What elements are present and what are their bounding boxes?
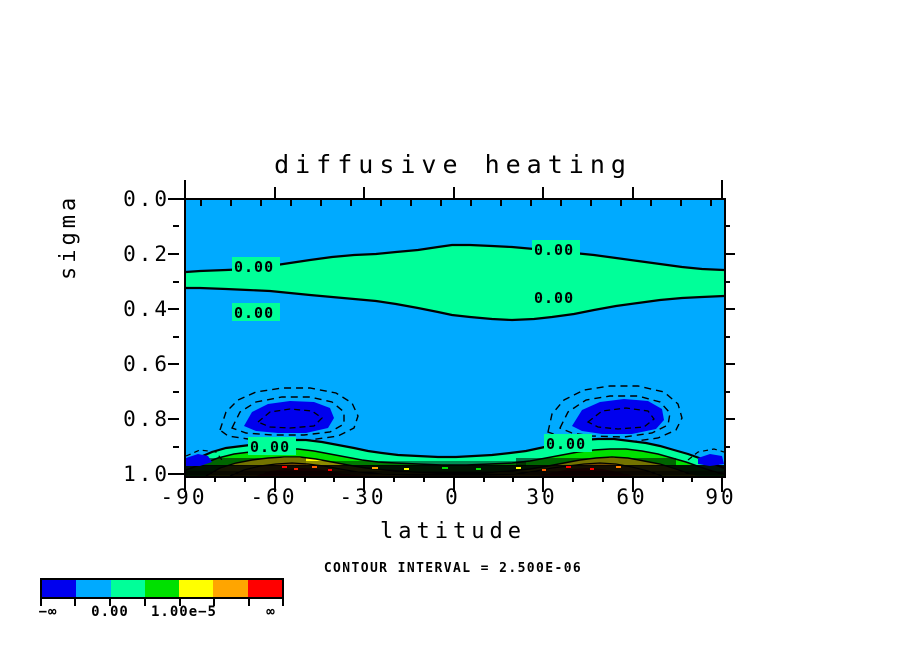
axis-tick-top <box>620 200 622 206</box>
axis-tick-top <box>350 200 352 206</box>
colorbar-band-6 <box>248 580 282 597</box>
colorbar-band-3 <box>145 580 179 597</box>
axis-tick-left-major <box>168 198 186 200</box>
colorbar <box>40 578 284 599</box>
axis-tick-bottom-major <box>632 476 634 492</box>
axis-tick-left-major <box>168 308 179 310</box>
axis-tick-bottom-minor <box>602 476 604 482</box>
axis-tick-left-major <box>168 253 179 255</box>
axis-tick-top <box>560 200 562 206</box>
axis-tick-left-minor <box>173 336 179 338</box>
contour-label-2: 0.00 <box>234 304 274 322</box>
y-tick-label: 0.2 <box>100 242 170 266</box>
axis-tick-bottom-minor <box>214 476 216 482</box>
axis-tick-top <box>320 200 322 206</box>
axis-tick-left-major <box>168 418 179 420</box>
axis-tick-top <box>230 200 232 206</box>
colorbar-band-4 <box>179 580 213 597</box>
axis-tick-bottom-minor <box>691 476 693 482</box>
axis-tick-bottom-major <box>363 476 365 492</box>
axis-tick-left-minor <box>173 225 179 227</box>
axis-tick-bottom-minor <box>483 476 485 482</box>
axis-tick-top <box>650 200 652 206</box>
x-axis-label: latitude <box>184 519 722 544</box>
contour-field: 0.00 0.00 0.00 0.00 0.00 0.00 <box>186 200 724 476</box>
axis-tick-bottom-major <box>184 476 186 492</box>
y-axis-label: sigma <box>56 194 81 280</box>
y-tick-label: 0.0 <box>100 187 170 211</box>
axis-tick-top <box>470 200 472 206</box>
axis-tick-top <box>680 200 682 206</box>
colorbar-tick <box>74 599 76 606</box>
axis-tick-right-minor <box>724 336 730 338</box>
contour-label-5: 0.00 <box>546 435 586 453</box>
axis-tick-top-major <box>274 187 276 198</box>
contour-label-4: 0.00 <box>250 438 290 456</box>
y-tick-label: 0.4 <box>100 297 170 321</box>
colorbar-bands <box>40 578 284 599</box>
axis-tick-top-major <box>542 187 544 198</box>
page-title: diffusive heating <box>184 150 722 179</box>
axis-tick-top-major <box>721 180 723 200</box>
axis-tick-top <box>290 200 292 206</box>
axis-tick-bottom-minor <box>244 476 246 482</box>
axis-tick-top <box>260 200 262 206</box>
axis-tick-top <box>530 200 532 206</box>
colorbar-label-zero: 0.00 <box>84 604 136 620</box>
y-tick-label: 0.6 <box>100 352 170 376</box>
contour-interval-note: CONTOUR INTERVAL = 2.500E-06 <box>184 561 722 576</box>
axis-tick-left-major <box>168 363 179 365</box>
axis-tick-left-minor <box>173 446 179 448</box>
axis-tick-right-major <box>724 308 735 310</box>
axis-tick-top-major <box>184 180 186 200</box>
colorbar-label-min: −∞ <box>24 604 72 620</box>
axis-tick-left-major <box>168 473 186 475</box>
axis-tick-bottom-minor <box>304 476 306 482</box>
contour-plot-area: 0.00 0.00 0.00 0.00 0.00 0.00 <box>184 198 726 478</box>
axis-tick-top <box>710 200 712 206</box>
colorbar-band-5 <box>213 580 247 597</box>
axis-tick-top <box>500 200 502 206</box>
axis-tick-bottom-minor <box>423 476 425 482</box>
axis-tick-bottom-major <box>542 476 544 492</box>
axis-tick-right-major <box>724 363 735 365</box>
axis-tick-bottom-minor <box>393 476 395 482</box>
axis-tick-bottom-major <box>274 476 276 492</box>
colorbar-band-0 <box>42 580 76 597</box>
axis-tick-top-major <box>632 187 634 198</box>
axis-tick-bottom-minor <box>512 476 514 482</box>
axis-tick-left-minor <box>173 391 179 393</box>
axis-tick-right-minor <box>724 225 730 227</box>
contour-label-1: 0.00 <box>534 241 574 259</box>
axis-tick-top-major <box>453 187 455 198</box>
axis-tick-top <box>380 200 382 206</box>
contour-label-0: 0.00 <box>234 258 274 276</box>
colorbar-tick <box>248 599 250 606</box>
axis-tick-top <box>410 200 412 206</box>
axis-tick-bottom-minor <box>662 476 664 482</box>
axis-tick-bottom-major <box>453 476 455 492</box>
colorbar-band-1 <box>76 580 110 597</box>
axis-tick-top <box>440 200 442 206</box>
axis-tick-right-minor <box>724 281 730 283</box>
axis-tick-top <box>200 200 202 206</box>
contour-label-3: 0.00 <box>534 289 574 307</box>
y-tick-label: 0.8 <box>100 407 170 431</box>
colorbar-band-2 <box>111 580 145 597</box>
axis-tick-bottom-minor <box>333 476 335 482</box>
colorbar-label-mid: 1.00e−5 <box>142 604 226 620</box>
axis-tick-right-minor <box>724 391 730 393</box>
colorbar-label-max: ∞ <box>252 604 290 620</box>
y-tick-label: 1.0 <box>100 462 170 486</box>
axis-tick-bottom-major <box>721 476 723 492</box>
axis-tick-right-major <box>724 253 735 255</box>
axis-tick-top <box>590 200 592 206</box>
axis-tick-left-minor <box>173 281 179 283</box>
axis-tick-bottom-minor <box>572 476 574 482</box>
axis-tick-top-major <box>363 187 365 198</box>
axis-tick-right-minor <box>724 446 730 448</box>
axis-tick-right-major <box>724 418 735 420</box>
